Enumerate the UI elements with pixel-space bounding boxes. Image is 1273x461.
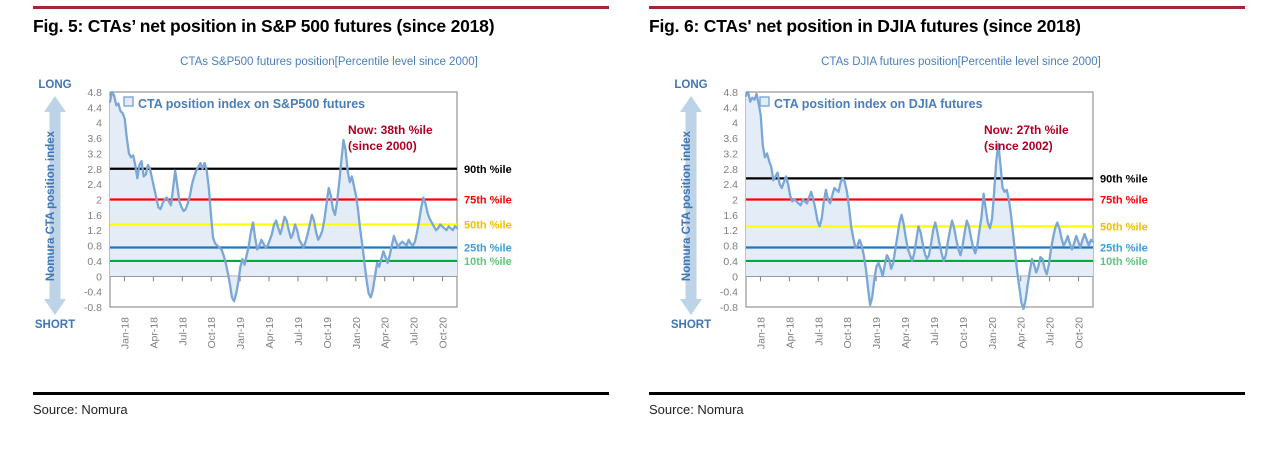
- chart-header-label: CTAs DJIA futures position[Percentile le…: [636, 56, 1272, 68]
- percentile-legend-label: 75th %ile: [1100, 195, 1148, 207]
- svg-text:Apr-18: Apr-18: [148, 317, 160, 349]
- series-swatch-icon: [760, 97, 769, 106]
- y-axis-title: Nomura CTA position index: [45, 130, 57, 281]
- svg-text:0: 0: [732, 271, 738, 283]
- svg-text:-0.4: -0.4: [720, 287, 738, 299]
- svg-text:0.4: 0.4: [723, 256, 738, 268]
- svg-text:4.8: 4.8: [723, 87, 738, 99]
- chart-canvas-djia: LONGNomura CTA position indexSHORT4.84.4…: [636, 76, 1272, 366]
- svg-text:Jan-18: Jan-18: [755, 317, 767, 349]
- svg-text:Jan-19: Jan-19: [871, 317, 883, 349]
- svg-text:4.4: 4.4: [87, 102, 102, 114]
- svg-text:Oct-19: Oct-19: [322, 317, 334, 349]
- panel-top-rule: [649, 6, 1245, 9]
- svg-text:4: 4: [96, 118, 102, 130]
- figure-panel-djia: Fig. 6: CTAs' net position in DJIA futur…: [636, 0, 1272, 461]
- svg-text:2: 2: [732, 195, 738, 207]
- svg-text:LONG: LONG: [38, 79, 71, 91]
- svg-text:Apr-19: Apr-19: [900, 317, 912, 349]
- svg-text:1.6: 1.6: [87, 210, 102, 222]
- svg-text:2.4: 2.4: [87, 179, 102, 191]
- panel-bottom-rule: [33, 392, 609, 395]
- svg-text:SHORT: SHORT: [671, 319, 711, 331]
- svg-text:1.2: 1.2: [87, 225, 102, 237]
- y-axis-ticks: 4.84.443.63.22.82.421.61.20.80.40-0.4-0.…: [720, 87, 738, 314]
- svg-text:2: 2: [96, 195, 102, 207]
- source-note: Source: Nomura: [649, 402, 744, 417]
- chart-header-label: CTAs S&P500 futures position[Percentile …: [0, 56, 636, 68]
- svg-text:LONG: LONG: [674, 79, 707, 91]
- svg-text:Jan-18: Jan-18: [119, 317, 131, 349]
- svg-text:Oct-19: Oct-19: [958, 317, 970, 349]
- svg-text:3.6: 3.6: [723, 133, 738, 145]
- percentile-legend-label: 25th %ile: [464, 242, 512, 254]
- svg-text:Apr-18: Apr-18: [784, 317, 796, 349]
- y-axis-title: Nomura CTA position index: [681, 130, 693, 281]
- figure-title: Fig. 6: CTAs' net position in DJIA futur…: [649, 16, 1239, 37]
- figure-panel-sp500: Fig. 5: CTAs’ net position in S&P 500 fu…: [0, 0, 636, 461]
- series-label: CTA position index on DJIA futures: [774, 97, 983, 111]
- svg-text:4: 4: [732, 118, 738, 130]
- svg-text:Jul-20: Jul-20: [1045, 317, 1057, 346]
- now-percentile-annotation: Now: 38th %ile: [348, 123, 433, 137]
- now-since-annotation: (since 2002): [984, 139, 1053, 153]
- svg-text:3.6: 3.6: [87, 133, 102, 145]
- long-short-arrow-group: LONGNomura CTA position indexSHORT: [35, 79, 75, 331]
- svg-text:3.2: 3.2: [87, 148, 102, 160]
- percentile-legend-label: 10th %ile: [1100, 256, 1148, 268]
- svg-text:Oct-18: Oct-18: [842, 317, 854, 349]
- svg-text:Jan-20: Jan-20: [987, 317, 999, 349]
- panel-top-rule: [33, 6, 609, 9]
- svg-text:Oct-20: Oct-20: [1074, 317, 1086, 349]
- svg-text:2.8: 2.8: [87, 164, 102, 176]
- svg-text:Jul-20: Jul-20: [409, 317, 421, 346]
- svg-text:Apr-20: Apr-20: [1016, 317, 1028, 349]
- svg-text:2.4: 2.4: [723, 179, 738, 191]
- series-label: CTA position index on S&P500 futures: [138, 97, 365, 111]
- svg-text:-0.8: -0.8: [84, 302, 102, 314]
- svg-text:2.8: 2.8: [723, 164, 738, 176]
- svg-text:3.2: 3.2: [723, 148, 738, 160]
- svg-text:-0.4: -0.4: [84, 287, 102, 299]
- svg-text:Apr-19: Apr-19: [264, 317, 276, 349]
- svg-text:0.8: 0.8: [723, 241, 738, 253]
- svg-text:Oct-20: Oct-20: [438, 317, 450, 349]
- percentile-legend-label: 25th %ile: [1100, 242, 1148, 254]
- svg-text:Jul-19: Jul-19: [929, 317, 941, 346]
- two-chart-page: Fig. 5: CTAs’ net position in S&P 500 fu…: [0, 0, 1273, 461]
- long-short-arrow-group: LONGNomura CTA position indexSHORT: [671, 79, 711, 331]
- svg-text:Jul-18: Jul-18: [177, 317, 189, 346]
- percentile-legend-label: 75th %ile: [464, 195, 512, 207]
- now-since-annotation: (since 2000): [348, 139, 417, 153]
- percentile-legend-label: 10th %ile: [464, 256, 512, 268]
- series-swatch-icon: [124, 97, 133, 106]
- svg-text:Jan-20: Jan-20: [351, 317, 363, 349]
- svg-text:Jul-18: Jul-18: [813, 317, 825, 346]
- y-axis-ticks: 4.84.443.63.22.82.421.61.20.80.40-0.4-0.…: [84, 87, 102, 314]
- percentile-legend-label: 90th %ile: [1100, 173, 1148, 185]
- percentile-legend: 90th %ile75th %ile50th %ile25th %ile10th…: [1100, 173, 1148, 268]
- percentile-legend: 90th %ile75th %ile50th %ile25th %ile10th…: [464, 164, 512, 268]
- svg-text:SHORT: SHORT: [35, 319, 75, 331]
- svg-text:Apr-20: Apr-20: [380, 317, 392, 349]
- percentile-legend-label: 50th %ile: [1100, 221, 1148, 233]
- svg-text:-0.8: -0.8: [720, 302, 738, 314]
- percentile-legend-label: 50th %ile: [464, 219, 512, 231]
- svg-text:Jan-19: Jan-19: [235, 317, 247, 349]
- panel-bottom-rule: [649, 392, 1245, 395]
- svg-text:0.4: 0.4: [87, 256, 102, 268]
- svg-text:Jul-19: Jul-19: [293, 317, 305, 346]
- chart-canvas-sp500: LONGNomura CTA position indexSHORT4.84.4…: [0, 76, 636, 366]
- now-percentile-annotation: Now: 27th %ile: [984, 123, 1069, 137]
- svg-text:4.4: 4.4: [723, 102, 738, 114]
- svg-text:1.6: 1.6: [723, 210, 738, 222]
- svg-text:0.8: 0.8: [87, 241, 102, 253]
- svg-text:1.2: 1.2: [723, 225, 738, 237]
- source-note: Source: Nomura: [33, 402, 128, 417]
- svg-text:Oct-18: Oct-18: [206, 317, 218, 349]
- figure-title: Fig. 5: CTAs’ net position in S&P 500 fu…: [33, 16, 623, 37]
- svg-text:0: 0: [96, 271, 102, 283]
- svg-text:4.8: 4.8: [87, 87, 102, 99]
- percentile-legend-label: 90th %ile: [464, 164, 512, 176]
